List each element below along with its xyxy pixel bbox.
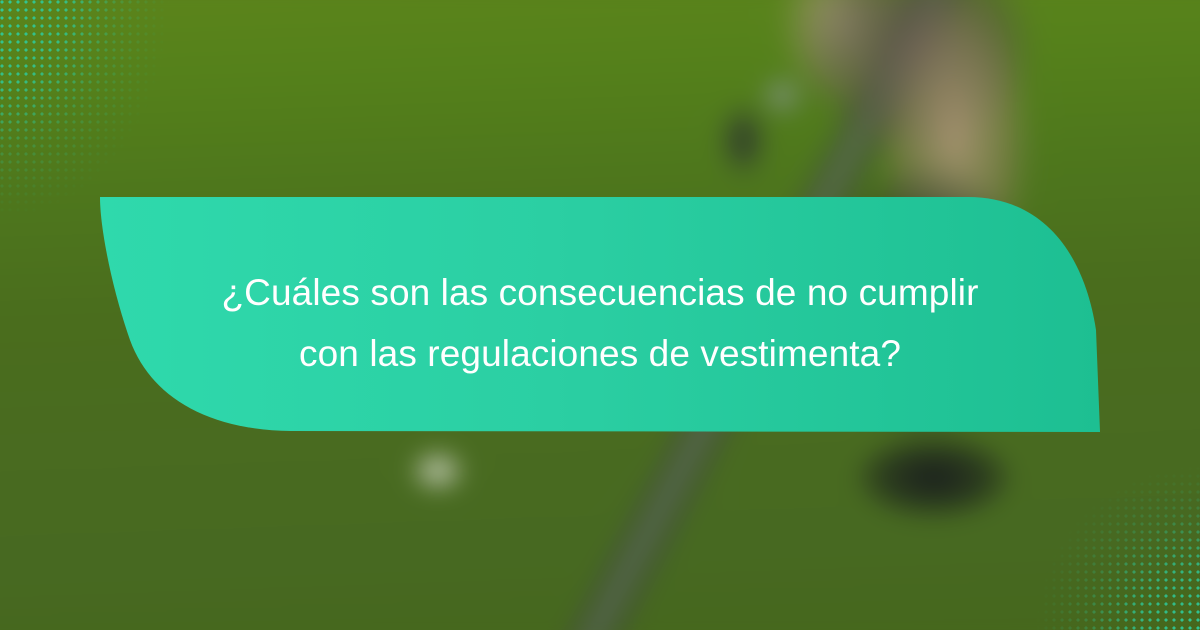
headline-banner: ¿Cuáles son las consecuencias de no cump… [0, 0, 1200, 630]
social-share-card: ¿Cuáles son las consecuencias de no cump… [0, 0, 1200, 630]
page-title: ¿Cuáles son las consecuencias de no cump… [150, 262, 1050, 385]
